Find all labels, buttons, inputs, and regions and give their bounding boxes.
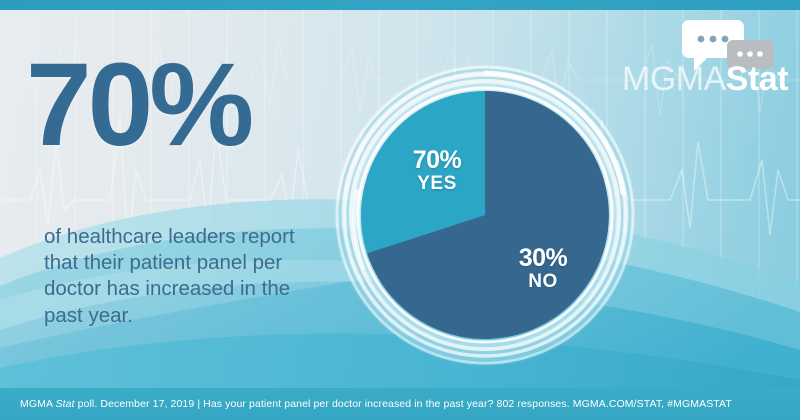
footer-rest: poll. December 17, 2019 | Has your patie…	[75, 398, 732, 410]
pie-label-no: 30% NO	[495, 245, 591, 292]
pie-label-yes-category: YES	[385, 174, 489, 194]
pie-chart: 70% YES 30% NO	[333, 63, 637, 367]
mgma-stat-infographic: 70% of healthcare leaders report that th…	[0, 0, 800, 420]
logo-mgma-text: MGMA	[622, 60, 726, 98]
pie-label-yes: 70% YES	[385, 147, 489, 194]
footer-italic: Stat	[56, 398, 75, 410]
mgma-stat-logo: MGMAStat	[622, 18, 782, 96]
pie-label-yes-value: 70%	[385, 147, 489, 174]
headline-body-text: of healthcare leaders report that their …	[44, 224, 334, 329]
pie-label-no-value: 30%	[495, 245, 591, 272]
top-accent-bar	[0, 0, 800, 10]
footer-bar: MGMA Stat poll. December 17, 2019 | Has …	[0, 388, 800, 420]
headline-statistic: 70%	[26, 46, 250, 164]
pie-chart-graphic	[333, 63, 637, 367]
logo-wordmark: MGMAStat	[622, 62, 788, 96]
footer-prefix: MGMA	[20, 398, 56, 410]
logo-stat-text: Stat	[726, 60, 788, 98]
pie-label-no-category: NO	[495, 272, 591, 292]
footer-source-text: MGMA Stat poll. December 17, 2019 | Has …	[0, 398, 732, 410]
